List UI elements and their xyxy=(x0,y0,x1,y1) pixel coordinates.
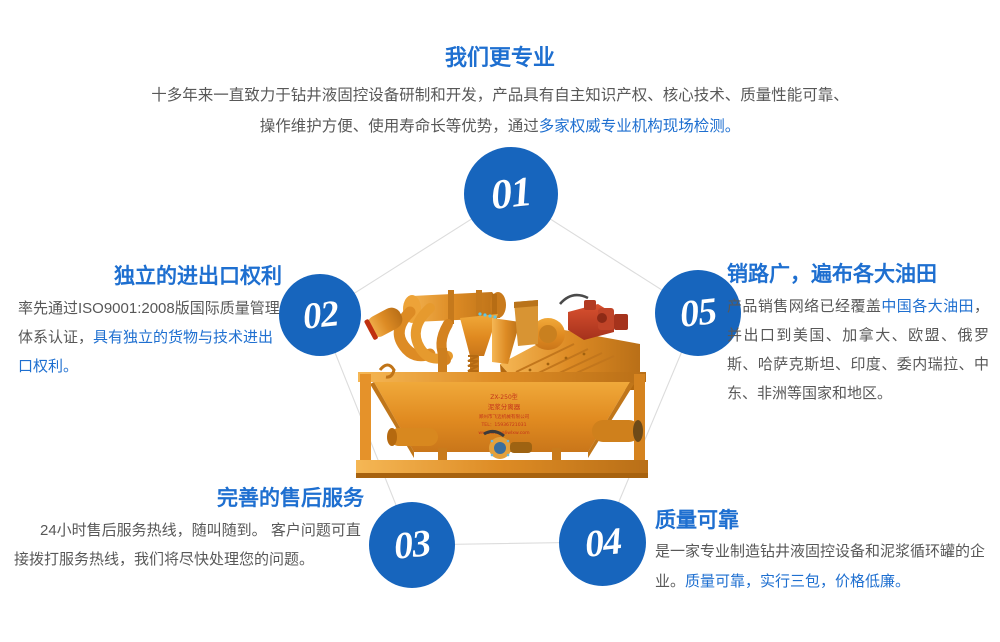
step-number-05: 05 xyxy=(678,292,718,334)
step-number-02: 02 xyxy=(301,295,340,335)
infographic-root: ZX-250型 泥浆分离器 郑州市飞迈机械有限公司 TEL：1593672103… xyxy=(0,0,1000,642)
feature-heading-05: 销路广，遍布各大油田 xyxy=(727,262,989,288)
step-badge-02[interactable]: 02 xyxy=(279,274,361,356)
product-photo: ZX-250型 泥浆分离器 郑州市飞迈机械有限公司 TEL：1593672103… xyxy=(352,252,652,492)
feature-block-02: 独立的进出口权利 率先通过ISO9001:2008版国际质量管理体系认证，具有独… xyxy=(18,264,282,382)
feature-body-03: 24小时售后服务热线，随叫随到。 客户问题可直接拨打服务热线，我们将尽快处理您的… xyxy=(14,517,364,575)
feature-block-01: 我们更专业 十多年来一直致力于钻井液固控设备研制和开发，产品具有自主知识产权、核… xyxy=(150,44,850,143)
feature-body-04: 是一家专业制造钻井液固控设备和泥浆循环罐的企业。质量可靠，实行三包，价格低廉。 xyxy=(655,537,985,596)
step-badge-04[interactable]: 04 xyxy=(559,499,646,586)
feature-heading-03: 完善的售后服务 xyxy=(14,486,364,512)
feature-body-05: 产品销售网络已经覆盖中国各大油田，并出口到美国、加拿大、欧盟、俄罗斯、哈萨克斯坦… xyxy=(727,293,989,408)
feature-body-01: 十多年来一直致力于钻井液固控设备研制和开发，产品具有自主知识产权、核心技术、质量… xyxy=(150,80,850,144)
svg-text:ZX-250型: ZX-250型 xyxy=(490,393,518,401)
feature-block-05: 销路广，遍布各大油田 产品销售网络已经覆盖中国各大油田，并出口到美国、加拿大、欧… xyxy=(727,262,989,408)
feature-heading-02: 独立的进出口权利 xyxy=(18,264,282,290)
svg-text:TEL：15936721031: TEL：15936721031 xyxy=(480,422,526,428)
feature-block-03: 完善的售后服务 24小时售后服务热线，随叫随到。 客户问题可直接拨打服务热线，我… xyxy=(14,486,364,575)
feature-heading-01: 我们更专业 xyxy=(150,44,850,72)
step-number-01: 01 xyxy=(489,171,533,217)
step-badge-03[interactable]: 03 xyxy=(369,502,455,588)
step-badge-01[interactable]: 01 xyxy=(464,147,558,241)
step-number-03: 03 xyxy=(392,524,432,566)
svg-text:泥浆分离器: 泥浆分离器 xyxy=(488,402,521,411)
feature-heading-04: 质量可靠 xyxy=(655,508,985,534)
feature-body-02: 率先通过ISO9001:2008版国际质量管理体系认证，具有独立的货物与技术进出… xyxy=(18,295,282,381)
feature-block-04: 质量可靠 是一家专业制造钻井液固控设备和泥浆循环罐的企业。质量可靠，实行三包，价… xyxy=(655,508,985,596)
svg-text:郑州市飞迈机械有限公司: 郑州市飞迈机械有限公司 xyxy=(479,413,530,420)
step-number-04: 04 xyxy=(583,522,623,564)
